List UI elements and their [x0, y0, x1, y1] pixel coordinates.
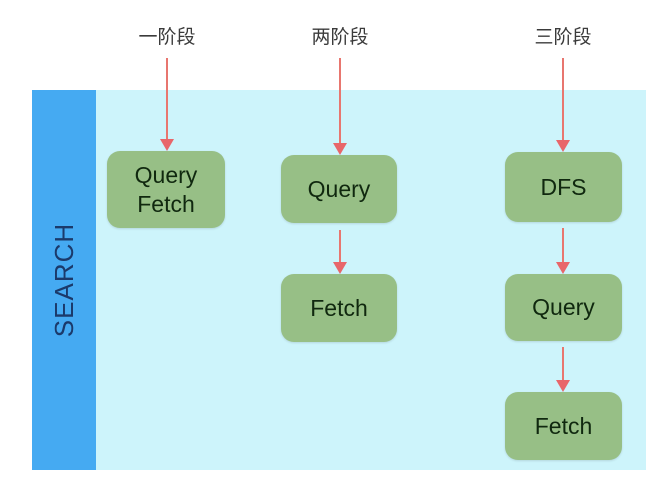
arrow-head-icon: [556, 262, 570, 274]
flow-arrow-three-phase-2: [553, 347, 573, 392]
node-label: Fetch: [310, 294, 368, 323]
arrow-shaft: [339, 58, 341, 144]
node-three-phase-dfs[interactable]: DFS: [505, 152, 622, 222]
arrow-head-icon: [160, 139, 174, 151]
arrow-shaft: [166, 58, 168, 140]
flow-arrow-three-phase-0: [553, 58, 573, 152]
search-rail: SEARCH: [32, 90, 96, 470]
flow-arrow-three-phase-1: [553, 228, 573, 274]
flow-arrow-two-phase-0: [330, 58, 350, 155]
arrow-head-icon: [556, 380, 570, 392]
stage-label-one: 一阶段: [107, 28, 227, 47]
stage-label-two: 两阶段: [280, 28, 400, 47]
arrow-shaft: [562, 347, 564, 381]
diagram-canvas: 一阶段 两阶段 三阶段 SEARCH QueryFetchQueryFetchD…: [0, 0, 666, 483]
search-rail-label: SEARCH: [32, 90, 96, 470]
arrow-shaft: [339, 230, 341, 263]
node-label: Query: [135, 161, 198, 190]
node-label: Fetch: [535, 412, 593, 441]
node-label: Fetch: [137, 190, 195, 219]
stage-label-three: 三阶段: [503, 28, 623, 47]
node-three-phase-fetch[interactable]: Fetch: [505, 392, 622, 460]
node-label: DFS: [541, 173, 587, 202]
stage-label-three-text: 三阶段: [534, 26, 591, 48]
stage-label-two-text: 两阶段: [311, 26, 368, 48]
node-two-phase-query[interactable]: Query: [281, 155, 397, 223]
node-two-phase-fetch[interactable]: Fetch: [281, 274, 397, 342]
arrow-head-icon: [556, 140, 570, 152]
node-one-phase-query-fetch[interactable]: QueryFetch: [107, 151, 225, 228]
node-label: Query: [308, 175, 371, 204]
arrow-shaft: [562, 58, 564, 141]
stage-label-one-text: 一阶段: [138, 26, 195, 48]
node-label: Query: [532, 293, 595, 322]
flow-arrow-two-phase-1: [330, 230, 350, 274]
arrow-head-icon: [333, 143, 347, 155]
arrow-shaft: [562, 228, 564, 263]
arrow-head-icon: [333, 262, 347, 274]
node-three-phase-query[interactable]: Query: [505, 274, 622, 341]
flow-arrow-one-phase-0: [157, 58, 177, 151]
